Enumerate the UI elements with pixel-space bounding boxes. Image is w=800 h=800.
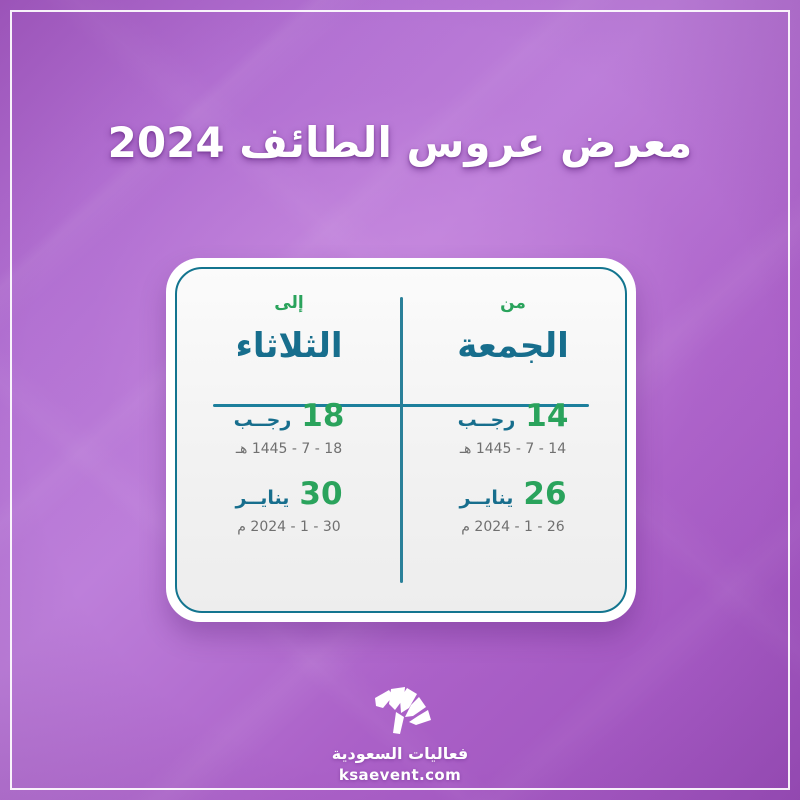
footer-brand-arabic: فعاليات السعودية — [332, 744, 468, 763]
from-hijri-full: 14 - 7 - 1445 هـ — [460, 441, 566, 457]
to-gregorian-day: 30 — [299, 479, 342, 510]
date-card: من الجمعة 14 رجــب 14 - 7 - 1445 هـ 26 ي… — [166, 258, 636, 622]
to-gregorian-month: ينايــر — [235, 489, 289, 508]
to-hijri-day: 18 — [301, 401, 344, 432]
to-label: إلى — [274, 295, 303, 312]
from-hijri-day: 14 — [525, 401, 568, 432]
footer-brand-url: ksaevent.com — [339, 766, 461, 784]
to-gregorian-full: 30 - 1 - 2024 م — [237, 519, 340, 535]
from-weekday: الجمعة — [457, 329, 569, 363]
date-card-inner: من الجمعة 14 رجــب 14 - 7 - 1445 هـ 26 ي… — [175, 267, 627, 613]
page-title: معرض عروس الطائف 2024 — [0, 118, 800, 167]
palm-fan-logo-icon — [363, 686, 437, 738]
date-column-to: إلى الثلاثاء 18 رجــب 18 - 7 - 1445 هـ 3… — [177, 269, 401, 611]
from-hijri-row: 14 رجــب — [458, 401, 569, 432]
from-gregorian-full: 26 - 1 - 2024 م — [461, 519, 564, 535]
date-columns: من الجمعة 14 رجــب 14 - 7 - 1445 هـ 26 ي… — [177, 269, 625, 611]
footer: فعاليات السعودية ksaevent.com — [0, 686, 800, 784]
date-column-from: من الجمعة 14 رجــب 14 - 7 - 1445 هـ 26 ي… — [401, 269, 625, 611]
poster-root: معرض عروس الطائف 2024 من الجمعة 14 رجــب… — [0, 0, 800, 800]
from-gregorian-month: ينايــر — [459, 489, 513, 508]
to-hijri-month: رجــب — [234, 411, 292, 430]
to-weekday: الثلاثاء — [235, 329, 342, 363]
from-gregorian-day: 26 — [523, 479, 566, 510]
from-hijri-month: رجــب — [458, 411, 516, 430]
to-hijri-full: 18 - 7 - 1445 هـ — [236, 441, 342, 457]
from-label: من — [500, 295, 526, 312]
from-gregorian-row: 26 ينايــر — [459, 479, 566, 510]
to-hijri-row: 18 رجــب — [234, 401, 345, 432]
to-gregorian-row: 30 ينايــر — [235, 479, 342, 510]
